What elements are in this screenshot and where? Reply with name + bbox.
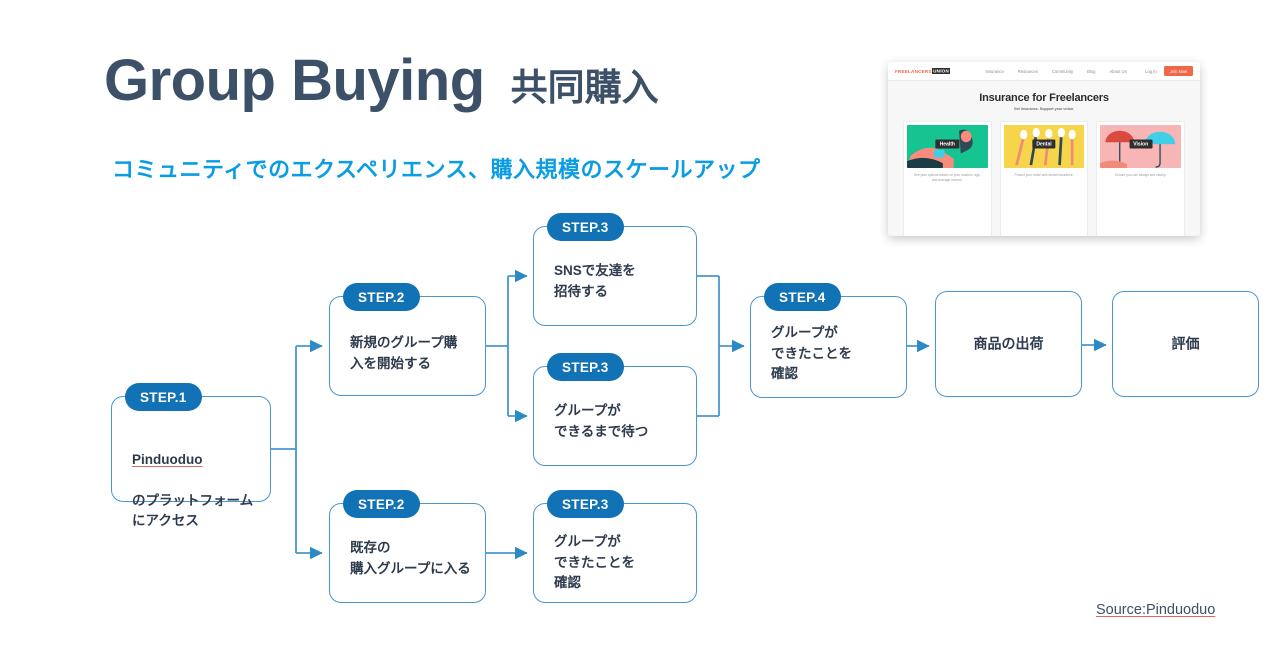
flow-node-step4-text: グループが できたことを 確認 bbox=[771, 323, 894, 385]
flow-node-step4[interactable]: STEP.4 グループが できたことを 確認 bbox=[750, 296, 907, 398]
flow-node-review-text: 評価 bbox=[1113, 333, 1258, 354]
card-desc-dental: Protect your smile with dental insurance… bbox=[1004, 173, 1085, 236]
logo-text-secondary: UNION bbox=[932, 68, 951, 74]
card-tag-health: Health bbox=[936, 140, 959, 149]
flow-node-step3-sns[interactable]: STEP.3 SNSで友達を 招待する bbox=[533, 226, 697, 326]
flow-node-step1-text: Pinduoduo のプラットフォーム にアクセス bbox=[132, 429, 258, 532]
flow-node-step2-new[interactable]: STEP.2 新規のグループ購 入を開始する bbox=[329, 296, 486, 396]
card-tag-vision: Vision bbox=[1129, 140, 1152, 149]
step-badge-3-wait: STEP.3 bbox=[547, 353, 624, 381]
thumbnail-nav-links: Insurance Resources Community Blog About… bbox=[985, 69, 1126, 74]
vision-illustration: Vision bbox=[1100, 125, 1181, 168]
thumbnail-hero: Insurance for Freelancers Get insurance.… bbox=[888, 81, 1200, 118]
logo-text-primary: FREELANCERS bbox=[895, 69, 932, 74]
dental-illustration: Dental bbox=[1004, 125, 1085, 168]
nav-link-insurance[interactable]: Insurance bbox=[985, 69, 1003, 74]
card-desc-vision: Ensure you can always see clearly. bbox=[1100, 173, 1181, 236]
join-now-button[interactable]: Join Now bbox=[1164, 66, 1193, 76]
source-label[interactable]: Source:Pinduoduo bbox=[1096, 602, 1215, 618]
nav-link-resources[interactable]: Resources bbox=[1018, 69, 1038, 74]
pinduoduo-link[interactable]: Pinduoduo bbox=[132, 452, 202, 467]
flow-node-shipping-text: 商品の出荷 bbox=[936, 333, 1081, 354]
flow-node-step1-body: のプラットフォーム にアクセス bbox=[132, 493, 253, 529]
flow-node-step2-existing-text: 既存の 購入グループに入る bbox=[350, 538, 473, 579]
hero-subtitle: Get insurance. Support your union. bbox=[888, 107, 1200, 111]
step-badge-4: STEP.4 bbox=[764, 283, 841, 311]
step-badge-3-sns: STEP.3 bbox=[547, 213, 624, 241]
health-illustration: Health bbox=[907, 125, 988, 168]
freelancers-union-logo: FREELANCERSUNION bbox=[895, 69, 950, 74]
nav-link-about-us[interactable]: About Us bbox=[1109, 69, 1126, 74]
flow-node-step2-existing[interactable]: STEP.2 既存の 購入グループに入る bbox=[329, 503, 486, 603]
card-desc-health: See plan options based on your location,… bbox=[907, 173, 988, 236]
flow-node-step3-sns-text: SNSで友達を 招待する bbox=[554, 261, 684, 302]
step-badge-3-existing: STEP.3 bbox=[547, 490, 624, 518]
flow-node-step2-new-text: 新規のグループ購 入を開始する bbox=[350, 333, 473, 374]
flow-node-step3-wait[interactable]: STEP.3 グループが できるまで待つ bbox=[533, 366, 697, 466]
nav-link-blog[interactable]: Blog bbox=[1087, 69, 1095, 74]
insurance-card-vision[interactable]: Vision Ensure you can always see clearly… bbox=[1096, 121, 1185, 236]
website-screenshot-thumbnail[interactable]: FREELANCERSUNION Insurance Resources Com… bbox=[888, 62, 1200, 236]
card-tag-dental: Dental bbox=[1032, 140, 1055, 149]
slide-canvas: Group Buying 共同購入 コミュニティでのエクスペリエンス、購入規模の… bbox=[0, 0, 1280, 654]
thumbnail-nav-right: Log In Join Now bbox=[1145, 66, 1193, 76]
flow-node-step3-existing-confirm-text: グループが できたことを 確認 bbox=[554, 532, 684, 594]
thumbnail-cards: Health See plan options based on your lo… bbox=[888, 118, 1200, 236]
nav-link-community[interactable]: Community bbox=[1052, 69, 1073, 74]
flow-node-step3-wait-text: グループが できるまで待つ bbox=[554, 401, 684, 442]
insurance-card-health[interactable]: Health See plan options based on your lo… bbox=[903, 121, 992, 236]
step-badge-2-new: STEP.2 bbox=[343, 283, 420, 311]
flow-node-shipping[interactable]: 商品の出荷 bbox=[935, 291, 1082, 397]
insurance-card-dental[interactable]: Dental Protect your smile with dental in… bbox=[1000, 121, 1089, 236]
flow-node-review[interactable]: 評価 bbox=[1112, 291, 1259, 397]
hero-title: Insurance for Freelancers bbox=[888, 92, 1200, 104]
login-link[interactable]: Log In bbox=[1145, 69, 1157, 74]
thumbnail-navbar: FREELANCERSUNION Insurance Resources Com… bbox=[888, 62, 1200, 81]
step-badge-1: STEP.1 bbox=[125, 383, 202, 411]
step-badge-2-existing: STEP.2 bbox=[343, 490, 420, 518]
flow-node-step1[interactable]: STEP.1 Pinduoduo のプラットフォーム にアクセス bbox=[111, 396, 271, 502]
flow-node-step3-existing-confirm[interactable]: STEP.3 グループが できたことを 確認 bbox=[533, 503, 697, 603]
